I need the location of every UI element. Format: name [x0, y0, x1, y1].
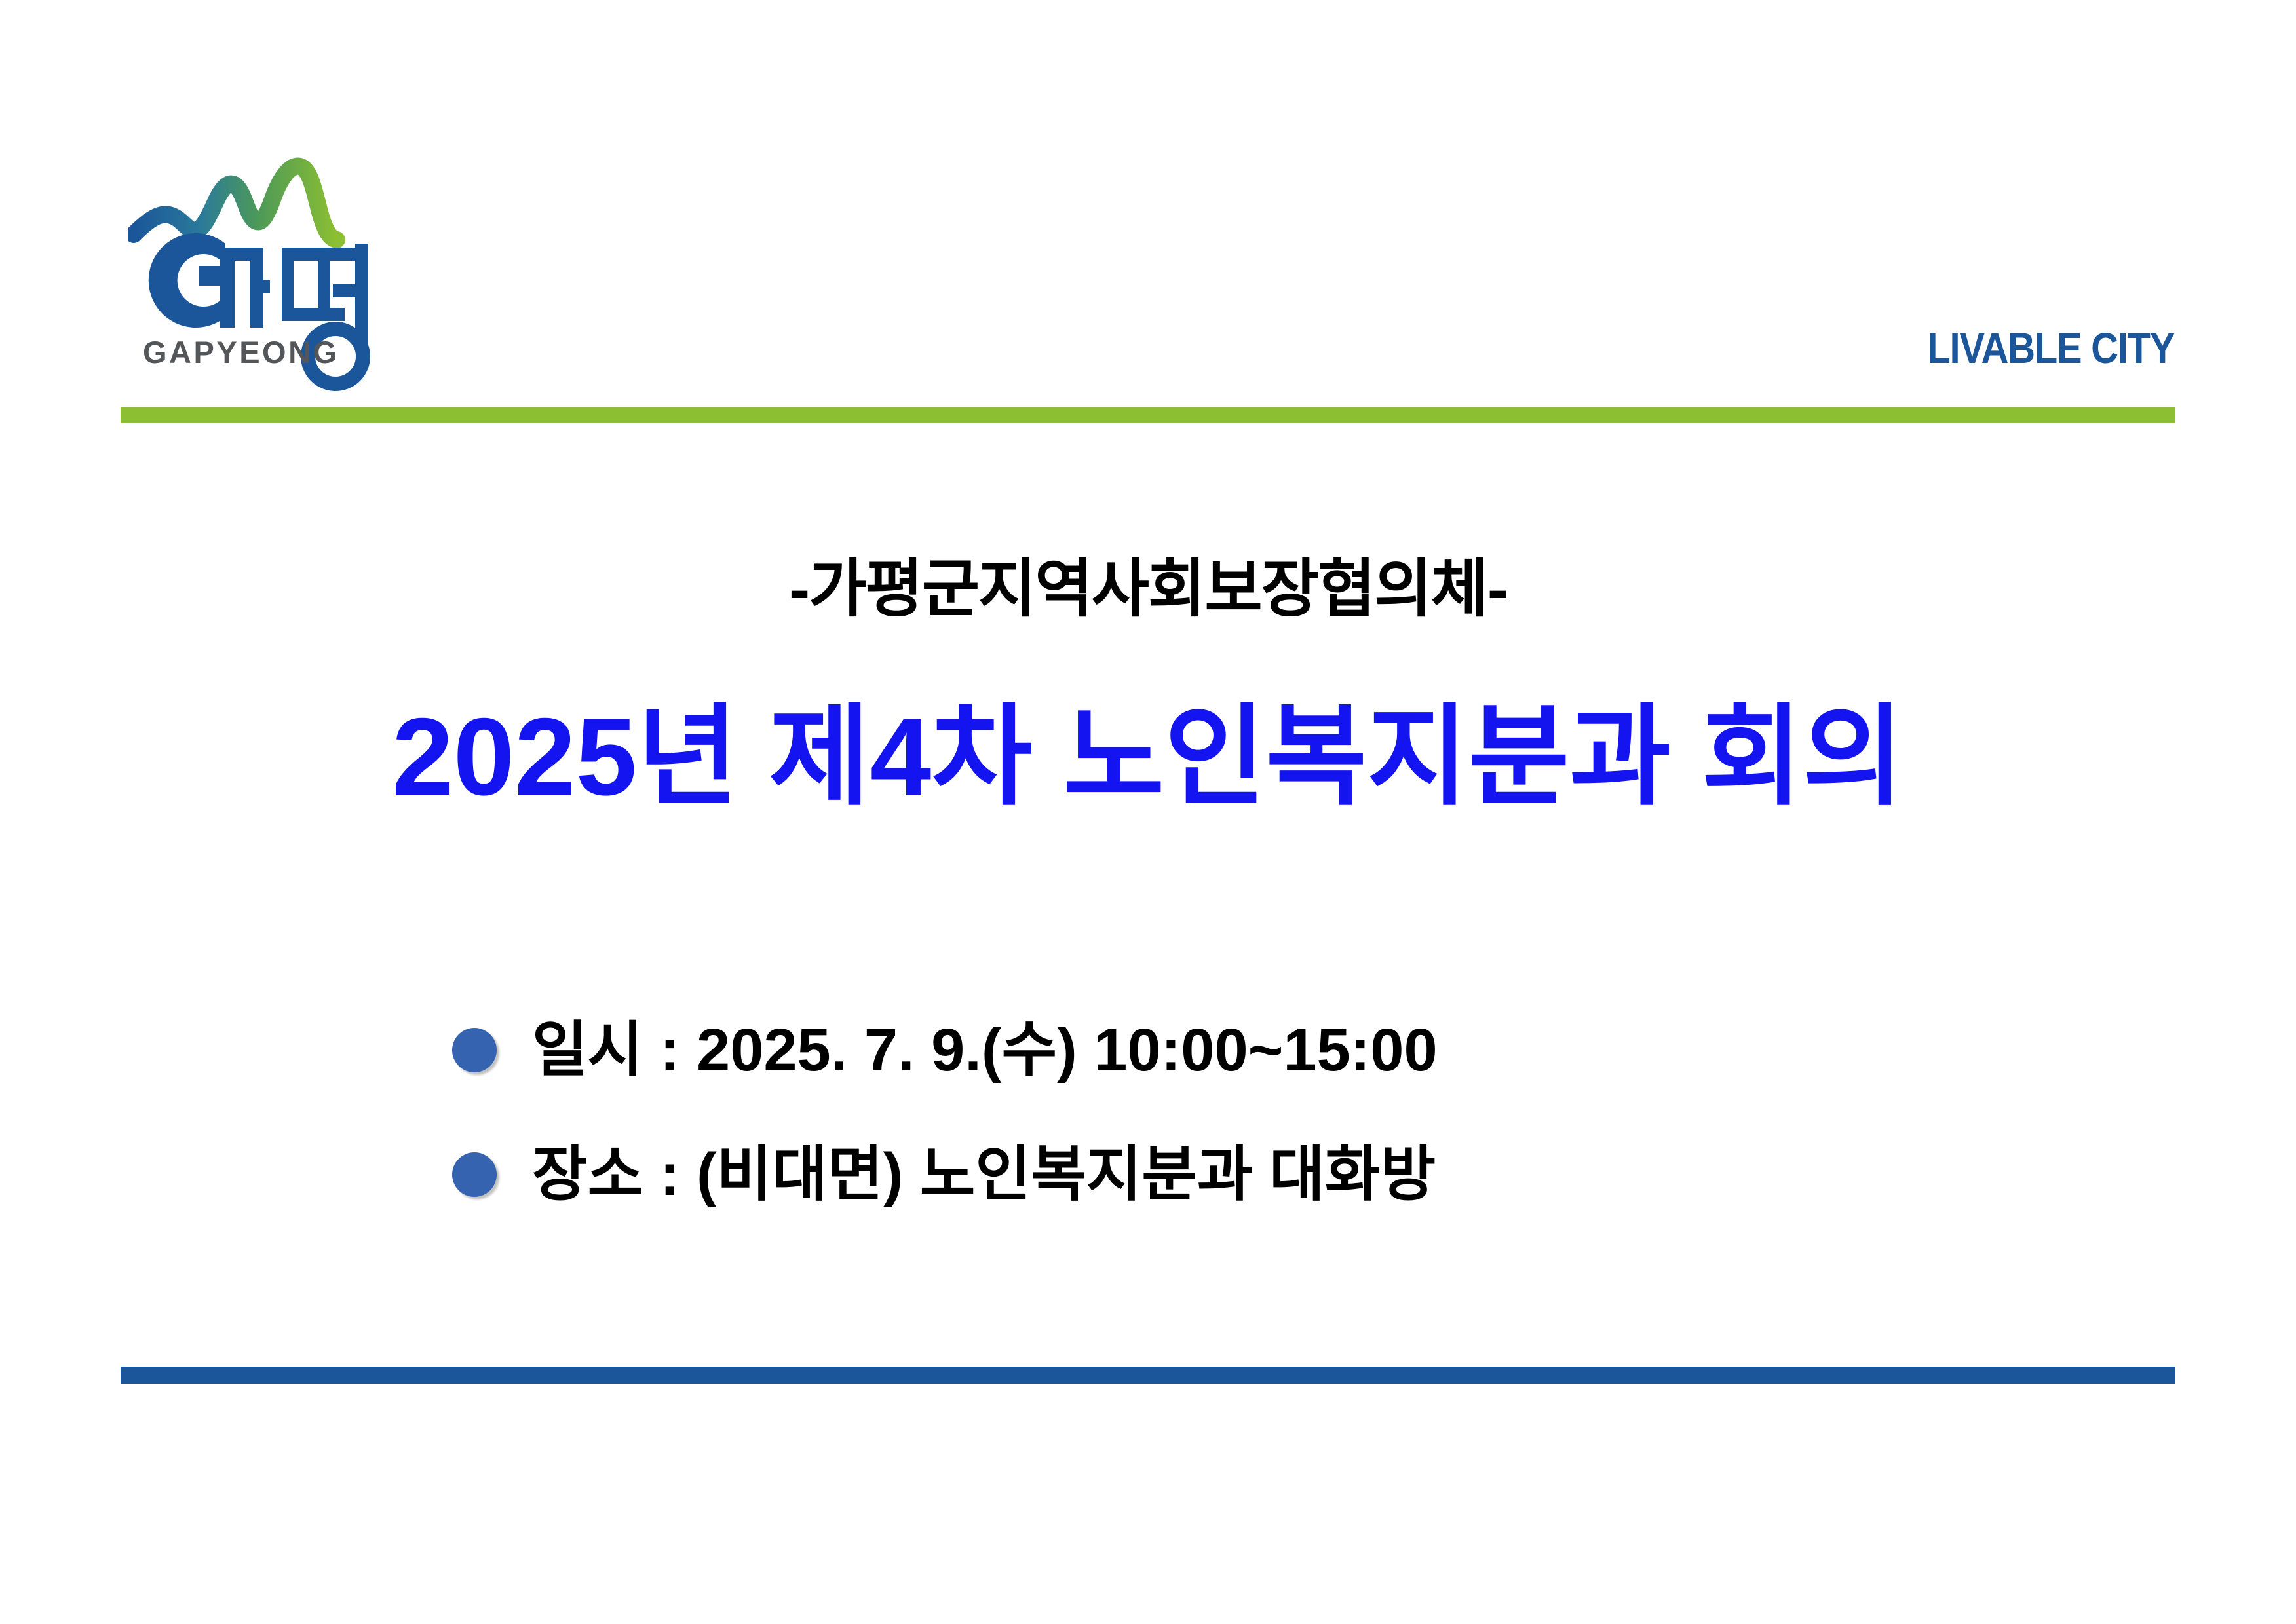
logo-wordmark: GAPYEONG [143, 337, 339, 368]
logo-hangul-pieup-bottom [282, 308, 345, 321]
detail-datetime: 일시 : 2025. 7. 9.(수) 10:00~15:00 [532, 1020, 1438, 1080]
logo-hangul-yeo-stem [355, 244, 368, 330]
slogan-livable-city: LIVABLE CITY [1927, 326, 2174, 369]
meeting-details-list: 일시 : 2025. 7. 9.(수) 10:00~15:00 장소 : (비대… [452, 988, 2025, 1237]
organization-subtitle: -가평군지역사회보장협의체- [0, 554, 2296, 626]
footer-divider-blue [121, 1367, 2175, 1384]
logo-hangul-pieup-right [318, 261, 330, 308]
page-title: 2025년 제4차 노인복지분과 회의 [0, 691, 2296, 823]
header-divider-green [121, 407, 2175, 423]
detail-location: 장소 : (비대면) 노인복지분과 대화방 [532, 1144, 1436, 1205]
list-item: 장소 : (비대면) 노인복지분과 대화방 [452, 1112, 2025, 1237]
page-header: GAPYEONG LIVABLE CITY [0, 0, 2296, 432]
logo-hangul-yeo-bar-bottom [333, 284, 356, 297]
logo-hangul-pieup-left [282, 261, 294, 308]
logo-wave-icon [134, 166, 337, 240]
list-item: 일시 : 2025. 7. 9.(수) 10:00~15:00 [452, 988, 2025, 1112]
filled-circle-bullet-icon [452, 1028, 497, 1072]
logo-hangul-a-bar [250, 280, 270, 293]
gapyeong-county-logo: GAPYEONG [128, 152, 404, 394]
poster-page: GAPYEONG LIVABLE CITY -가평군지역사회보장협의체- 202… [0, 0, 2296, 1624]
logo-hangul-yeo-bar-top [333, 248, 356, 261]
logo-hangul-ieung-join [355, 330, 368, 349]
filled-circle-bullet-icon [452, 1152, 497, 1197]
